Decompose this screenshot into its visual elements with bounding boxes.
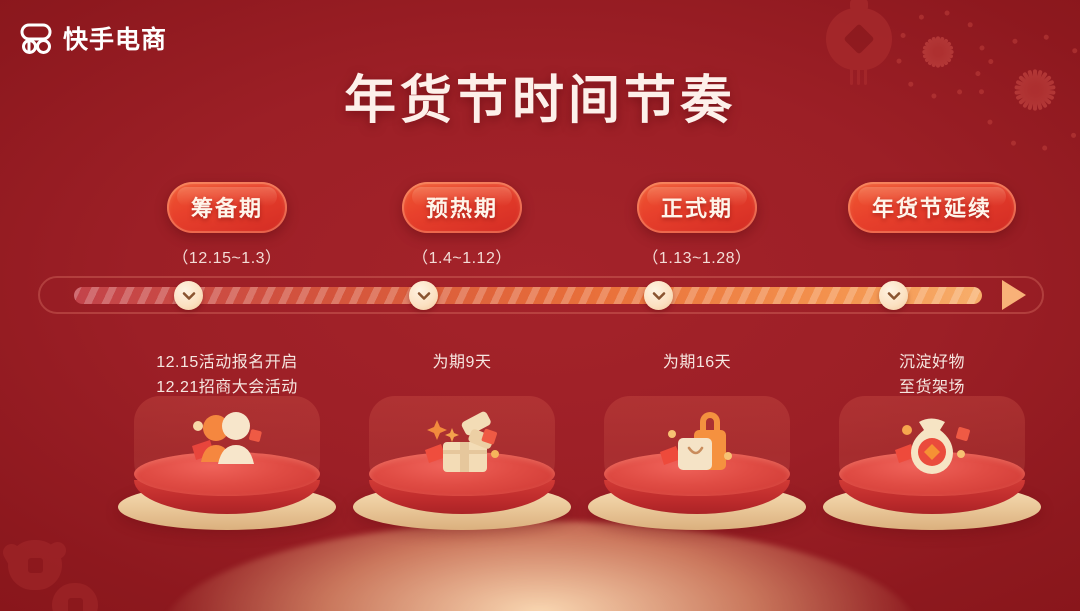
podium-row: [38, 402, 1042, 532]
timeline-marker-4[interactable]: [879, 281, 908, 310]
gift-box-icon: [407, 402, 517, 480]
chevron-down-icon: [417, 291, 431, 301]
coin-decoration: [52, 583, 98, 611]
phase-column-3: 正式期 （1.13~1.28）: [582, 182, 812, 268]
phase-badge-row: 筹备期 （12.15~1.3） 预热期 （1.4~1.12） 正式期 （1.13…: [38, 182, 1042, 268]
poster-canvas: 快手电商 年货节时间节奏 筹备期 （12.15~1.3） 预热期 （1.4~1.…: [0, 0, 1080, 611]
money-bag-icon: [877, 402, 987, 480]
caption-line: 为期9天: [347, 350, 577, 375]
phase-column-2: 预热期 （1.4~1.12）: [347, 182, 577, 268]
timeline-bar: [38, 276, 1044, 314]
phase-column-4: 年货节延续: [817, 182, 1047, 244]
phase-badge-1[interactable]: 筹备期: [167, 182, 287, 233]
caption-line: 12.15活动报名开启: [112, 350, 342, 375]
phase-badge-3[interactable]: 正式期: [637, 182, 757, 233]
chevron-down-icon: [887, 291, 901, 301]
brand-logo[interactable]: 快手电商: [18, 20, 167, 56]
timeline-marker-3[interactable]: [644, 281, 673, 310]
phase-date-2: （1.4~1.12）: [347, 244, 577, 268]
podium-1: [112, 402, 342, 532]
shopping-bag-icon: [642, 402, 752, 480]
caption-line: 为期16天: [582, 350, 812, 375]
timeline-track: [74, 287, 982, 304]
arrow-right-icon: [1002, 280, 1026, 310]
phase-date-1: （12.15~1.3）: [112, 244, 342, 268]
phase-badge-2[interactable]: 预热期: [402, 182, 522, 233]
kuaishou-camera-icon: [18, 21, 54, 55]
page-title: 年货节时间节奏: [0, 58, 1080, 133]
podium-3: [582, 402, 812, 532]
phase-caption-4: 沉淀好物 至货架场: [817, 350, 1047, 400]
caption-line: 沉淀好物: [817, 350, 1047, 375]
chevron-down-icon: [182, 291, 196, 301]
phase-badge-4[interactable]: 年货节延续: [848, 182, 1016, 233]
brand-name: 快手电商: [63, 20, 167, 56]
phase-caption-3: 为期16天: [582, 350, 812, 375]
phase-caption-1: 12.15活动报名开启 12.21招商大会活动: [112, 350, 342, 400]
phase-date-3: （1.13~1.28）: [582, 244, 812, 268]
people-group-icon: [172, 402, 282, 480]
chevron-down-icon: [652, 291, 666, 301]
phase-column-1: 筹备期 （12.15~1.3）: [112, 182, 342, 268]
podium-4: [817, 402, 1047, 532]
timeline-marker-1[interactable]: [174, 281, 203, 310]
coin-decoration: [8, 540, 62, 590]
bottom-glow: [160, 521, 920, 611]
timeline-marker-2[interactable]: [409, 281, 438, 310]
podium-2: [347, 402, 577, 532]
phase-caption-2: 为期9天: [347, 350, 577, 375]
